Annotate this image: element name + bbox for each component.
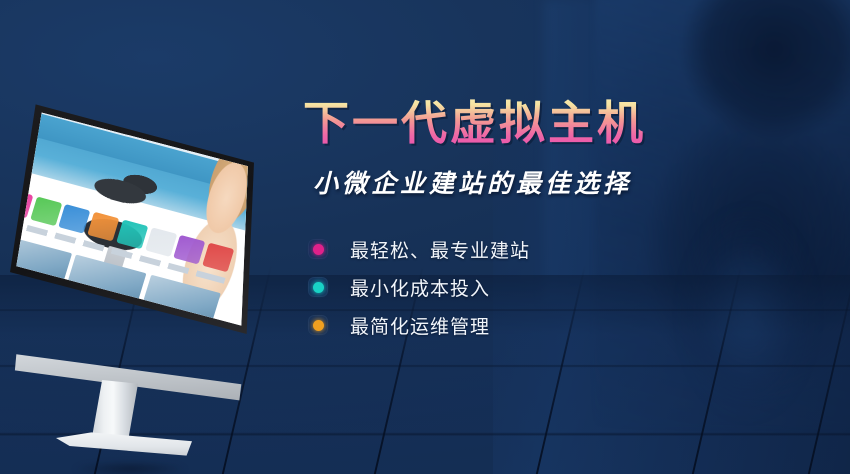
desktop-monitor-icon <box>4 96 256 426</box>
banner-content: 下一代虚拟主机 小微企业建站的最佳选择 最轻松、最专业建站最小化成本投入最简化运… <box>303 96 723 344</box>
list-item: 最小化成本投入 <box>308 268 723 306</box>
monitor-shadow <box>50 458 210 474</box>
bullet-dot-icon <box>308 315 328 335</box>
banner-feature-list: 最轻松、最专业建站最小化成本投入最简化运维管理 <box>308 230 723 344</box>
list-item-label: 最轻松、最专业建站 <box>350 236 530 263</box>
banner-headline: 下一代虚拟主机 <box>303 96 723 150</box>
promo-banner: 下一代虚拟主机 小微企业建站的最佳选择 最轻松、最专业建站最小化成本投入最简化运… <box>0 0 850 474</box>
list-item-label: 最小化成本投入 <box>350 274 490 301</box>
list-item-label: 最简化运维管理 <box>350 312 490 339</box>
bullet-dot <box>313 244 324 255</box>
bullet-dot-icon <box>308 239 328 259</box>
banner-subheadline: 小微企业建站的最佳选择 <box>313 164 723 200</box>
site-footer-lines <box>10 318 196 334</box>
list-item: 最轻松、最专业建站 <box>308 230 723 268</box>
app-icon-green <box>30 196 62 226</box>
bullet-dot <box>313 320 324 331</box>
bullet-dot-icon <box>308 277 328 297</box>
list-item: 最简化运维管理 <box>308 306 723 344</box>
bullet-dot <box>313 282 324 293</box>
